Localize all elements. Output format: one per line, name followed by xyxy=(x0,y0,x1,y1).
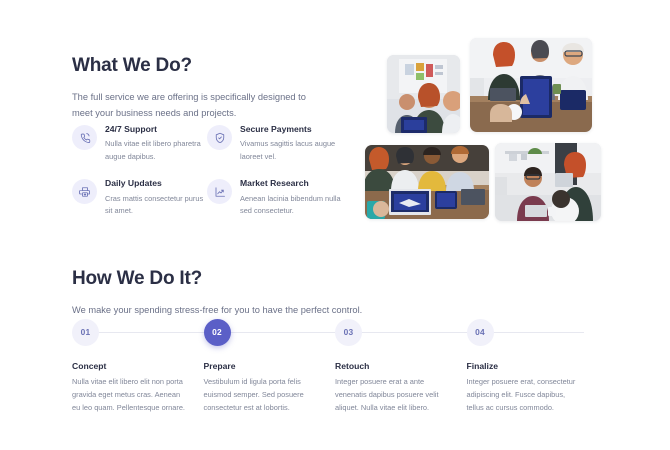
step-card-retouch[interactable]: Retouch Integer posuere erat a ante vene… xyxy=(335,362,467,414)
printer-upload-icon xyxy=(72,179,97,204)
photo-team-laptops xyxy=(365,145,489,219)
feature-description: Vivamus sagittis lacus augue laoreet vel… xyxy=(240,138,342,163)
section-title: How We Do It? xyxy=(72,268,612,291)
feature-title: Market Research xyxy=(240,179,342,188)
step-title: Prepare xyxy=(204,362,322,371)
step-marker-03[interactable]: 03 xyxy=(335,319,467,346)
feature-title: Secure Payments xyxy=(240,125,342,134)
photo-meeting-whiteboard xyxy=(387,55,460,133)
what-we-do-intro: What We Do? The full service we are offe… xyxy=(72,55,362,121)
step-card-finalize[interactable]: Finalize Integer posuere erat, consectet… xyxy=(467,362,599,414)
feature-text: 24/7 Support Nulla vitae elit libero pha… xyxy=(105,124,207,163)
photo-collage xyxy=(362,32,607,227)
feature-item-support[interactable]: 24/7 Support Nulla vitae elit libero pha… xyxy=(72,124,207,163)
step-card-prepare[interactable]: Prepare Vestibulum id ligula porta felis… xyxy=(204,362,336,414)
step-description: Nulla vitae elit libero elit non porta g… xyxy=(72,376,190,414)
phone-call-icon xyxy=(72,125,97,150)
feature-text: Daily Updates Cras mattis consectetur pu… xyxy=(105,178,207,217)
what-we-do-subtext: The full service we are offering is spec… xyxy=(72,89,312,121)
feature-text: Secure Payments Vivamus sagittis lacus a… xyxy=(240,124,342,163)
step-description: Integer posuere erat a ante venenatis da… xyxy=(335,376,453,414)
photo-team-conference-table xyxy=(470,38,592,132)
step-number-badge[interactable]: 04 xyxy=(467,319,494,346)
feature-item-secure-payments[interactable]: Secure Payments Vivamus sagittis lacus a… xyxy=(207,124,342,163)
how-we-do-it-intro: How We Do It? We make your spending stre… xyxy=(72,268,612,318)
step-description: Vestibulum id ligula porta felis euismod… xyxy=(204,376,322,414)
step-title: Finalize xyxy=(467,362,585,371)
step-marker-01[interactable]: 01 xyxy=(72,319,204,346)
feature-description: Nulla vitae elit libero pharetra augue d… xyxy=(105,138,207,163)
how-we-do-it-section: How We Do It? We make your spending stre… xyxy=(0,250,670,450)
step-card-list: Concept Nulla vitae elit libero elit non… xyxy=(72,362,598,414)
feature-title: 24/7 Support xyxy=(105,125,207,134)
feature-list: 24/7 Support Nulla vitae elit libero pha… xyxy=(72,124,362,233)
step-marker-04[interactable]: 04 xyxy=(467,319,599,346)
step-marker-02[interactable]: 02 xyxy=(204,319,336,346)
step-number-badge[interactable]: 03 xyxy=(335,319,362,346)
photo-presentation-discussion xyxy=(495,143,601,221)
feature-item-daily-updates[interactable]: Daily Updates Cras mattis consectetur pu… xyxy=(72,178,207,217)
page-title: What We Do? xyxy=(72,55,362,78)
step-rail: 01 02 03 04 xyxy=(72,318,598,346)
feature-title: Daily Updates xyxy=(105,179,207,188)
line-chart-icon xyxy=(207,179,232,204)
landing-page: What We Do? The full service we are offe… xyxy=(0,0,670,450)
step-number-badge-active[interactable]: 02 xyxy=(204,319,231,346)
process-steps: 01 02 03 04 Concept Nulla vitae elit lib… xyxy=(72,318,598,414)
feature-description: Cras mattis consectetur purus sit amet. xyxy=(105,193,207,218)
what-we-do-section: What We Do? The full service we are offe… xyxy=(0,0,670,245)
feature-text: Market Research Aenean lacinia bibendum … xyxy=(240,178,342,217)
step-description: Integer posuere erat, consectetur adipis… xyxy=(467,376,585,414)
step-title: Concept xyxy=(72,362,190,371)
how-we-do-it-subtext: We make your spending stress-free for yo… xyxy=(72,302,612,318)
shield-check-icon xyxy=(207,125,232,150)
step-title: Retouch xyxy=(335,362,453,371)
feature-description: Aenean lacinia bibendum nulla sed consec… xyxy=(240,193,342,218)
step-number-badge[interactable]: 01 xyxy=(72,319,99,346)
step-card-concept[interactable]: Concept Nulla vitae elit libero elit non… xyxy=(72,362,204,414)
feature-item-market-research[interactable]: Market Research Aenean lacinia bibendum … xyxy=(207,178,342,217)
